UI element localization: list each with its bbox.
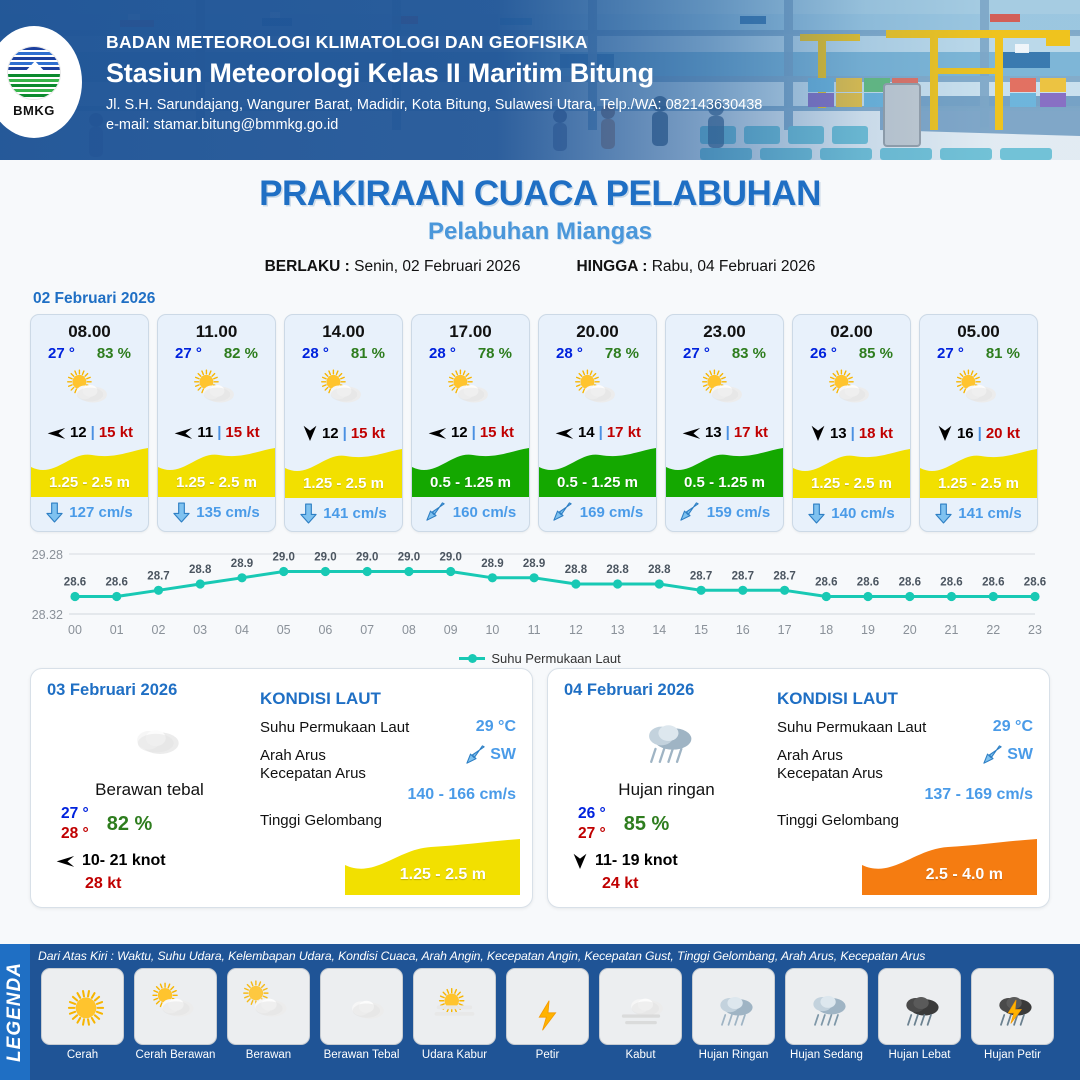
hingga-label: HINGGA :	[576, 258, 647, 275]
svg-text:14: 14	[652, 623, 666, 637]
berawan-tebal-icon	[108, 703, 192, 772]
card-time: 02.00	[793, 315, 910, 342]
card-wind-speed: 14	[578, 424, 595, 441]
wave-height-row: Tinggi Gelombang	[260, 812, 516, 829]
card-gust: 15 kt	[99, 424, 133, 441]
card-wind: 14 | 17 kt	[539, 422, 656, 445]
cerah-berawan-icon	[59, 367, 121, 418]
legend-icon-box	[320, 968, 403, 1045]
svg-text:00: 00	[68, 623, 82, 637]
card-time: 11.00	[158, 315, 275, 342]
cerah-berawan-icon	[144, 980, 208, 1032]
legend-icon-box	[971, 968, 1054, 1045]
card-gust: 17 kt	[607, 424, 641, 441]
card-wind-separator: |	[217, 424, 221, 441]
hujan-ringan-icon	[625, 703, 709, 772]
current-direction-down-icon	[173, 502, 190, 523]
card-weather-icon	[158, 362, 275, 422]
card-current: 169 cm/s	[539, 497, 656, 529]
card-wind-speed: 12	[70, 424, 87, 441]
hourly-card: 02.00 26 ° 85 % 13 | 18 kt 1.25 - 2.5 m …	[792, 314, 911, 532]
card-weather-icon	[285, 362, 402, 422]
legend-item: Cerah Berawan	[131, 968, 220, 1061]
card-weather-icon	[31, 362, 148, 422]
current-speed-row: Kecepatan Arus 140 - 166 cm/s	[260, 765, 516, 804]
udara-kabur-icon	[423, 980, 487, 1032]
card-wind-speed: 16	[957, 425, 974, 442]
card-humidity: 81 %	[351, 345, 385, 362]
current-speed-label: Kecepatan Arus	[260, 765, 516, 782]
cerah-berawan-icon	[313, 367, 375, 418]
card-wave-height: 1.25 - 2.5 m	[158, 474, 275, 491]
card-wave-height: 0.5 - 1.25 m	[666, 474, 783, 491]
legend-item-label: Hujan Sedang	[790, 1049, 863, 1061]
card-current-speed: 159 cm/s	[707, 504, 770, 521]
svg-text:28.6: 28.6	[940, 577, 962, 589]
card-time: 05.00	[920, 315, 1037, 342]
hourly-card: 17.00 28 ° 78 % 12 | 15 kt 0.5 - 1.25 m …	[411, 314, 530, 532]
svg-text:28.6: 28.6	[64, 577, 86, 589]
wave-height-row: Tinggi Gelombang	[777, 812, 1033, 829]
card-wind-separator: |	[599, 424, 603, 441]
header-text-block: BADAN METEOROLOGI KLIMATOLOGI DAN GEOFIS…	[106, 32, 762, 133]
card-wave-height: 1.25 - 2.5 m	[285, 475, 402, 492]
wind-direction-ne-icon	[681, 425, 701, 441]
hujan-petir-icon	[981, 980, 1045, 1032]
svg-text:29.28: 29.28	[32, 548, 63, 562]
current-direction-label: Arah Arus	[777, 747, 843, 764]
card-humidity: 78 %	[605, 345, 639, 362]
card-temp-humidity: 26 ° 85 %	[793, 342, 910, 362]
svg-text:11: 11	[528, 623, 541, 637]
bmkg-logo-text: BMKG	[13, 103, 55, 118]
hourly-card: 05.00 27 ° 81 % 16 | 20 kt 1.25 - 2.5 m …	[919, 314, 1038, 532]
svg-text:21: 21	[945, 623, 959, 637]
card-weather-icon	[920, 362, 1037, 422]
daily-weather-icon	[47, 704, 252, 770]
card-current: 159 cm/s	[666, 497, 783, 529]
legend-item-label: Berawan	[246, 1049, 291, 1061]
card-time: 08.00	[31, 315, 148, 342]
hourly-card: 23.00 27 ° 83 % 13 | 17 kt 0.5 - 1.25 m …	[665, 314, 784, 532]
wind-direction-ne-icon	[427, 425, 447, 441]
card-wind-separator: |	[343, 425, 347, 442]
daily-wind: 10- 21 knot	[47, 852, 252, 870]
card-wave: 1.25 - 2.5 m	[31, 445, 148, 497]
card-current: 141 cm/s	[920, 498, 1037, 531]
legenda-band: LEGENDA	[0, 944, 30, 1080]
wind-direction-down-icon	[302, 424, 318, 442]
svg-text:28.6: 28.6	[982, 577, 1004, 589]
card-wave: 0.5 - 1.25 m	[539, 445, 656, 497]
hourly-card: 08.00 27 ° 83 % 12 | 15 kt 1.25 - 2.5 m …	[30, 314, 149, 532]
card-temp-humidity: 27 ° 81 %	[920, 342, 1037, 362]
daily-date: 03 Februari 2026	[47, 681, 252, 700]
legenda-band-text: LEGENDA	[4, 962, 26, 1062]
card-temp-humidity: 28 ° 78 %	[539, 342, 656, 362]
daily-condition: Hujan ringan	[564, 780, 769, 800]
svg-text:28.6: 28.6	[1024, 577, 1046, 589]
daily-forecast-panel: 04 Februari 2026 Hujan ringan 26 ° 27 ° …	[547, 668, 1050, 908]
card-humidity: 83 %	[97, 345, 131, 362]
card-current-speed: 141 cm/s	[323, 505, 386, 522]
card-wave: 1.25 - 2.5 m	[920, 446, 1037, 498]
card-weather-icon	[412, 362, 529, 422]
daily-wind-range: 11- 19 knot	[595, 852, 678, 870]
port-name: Pelabuhan Miangas	[0, 218, 1080, 246]
hingga-group: HINGGA : Rabu, 04 Februari 2026	[576, 258, 815, 276]
card-wind-speed: 12	[451, 424, 468, 441]
card-temp-humidity: 27 ° 83 %	[31, 342, 148, 362]
legend-item-label: Kabut	[625, 1049, 655, 1061]
card-current-speed: 169 cm/s	[580, 504, 643, 521]
svg-text:02: 02	[152, 623, 166, 637]
card-current: 127 cm/s	[31, 497, 148, 530]
current-direction-down-icon	[300, 503, 317, 524]
card-weather-icon	[539, 362, 656, 422]
current-direction-sw-icon	[679, 502, 701, 522]
daily-humidity: 85 %	[624, 813, 670, 836]
hourly-card: 14.00 28 ° 81 % 12 | 15 kt 1.25 - 2.5 m …	[284, 314, 403, 532]
station-name: Stasiun Meteorologi Kelas II Maritim Bit…	[106, 58, 762, 89]
daily-left-column: 04 Februari 2026 Hujan ringan 26 ° 27 ° …	[564, 681, 769, 897]
card-time: 23.00	[666, 315, 783, 342]
legend-icon-box	[134, 968, 217, 1045]
current-direction-sw-icon	[425, 502, 447, 522]
cerah-berawan-icon	[694, 367, 756, 418]
sst-row: Suhu Permukaan Laut 29 °C	[777, 718, 1033, 736]
berlaku-group: BERLAKU : Senin, 02 Februari 2026	[265, 258, 521, 276]
card-wind-separator: |	[726, 424, 730, 441]
svg-text:28.9: 28.9	[231, 558, 253, 570]
berlaku-value: Senin, 02 Februari 2026	[354, 258, 520, 275]
card-temp-humidity: 28 ° 78 %	[412, 342, 529, 362]
svg-text:09: 09	[444, 623, 458, 637]
legend-icon-box	[506, 968, 589, 1045]
svg-text:13: 13	[611, 623, 625, 637]
legend-item: Petir	[503, 968, 592, 1061]
svg-text:22: 22	[986, 623, 1000, 637]
current-direction-value: SW	[490, 746, 516, 764]
daily-temp-min: 27 °	[61, 805, 89, 823]
card-temp-humidity: 28 ° 81 %	[285, 342, 402, 362]
daily-wind: 11- 19 knot	[564, 852, 769, 870]
svg-text:28.8: 28.8	[606, 564, 629, 576]
daily-wave-value: 2.5 - 4.0 m	[926, 866, 1003, 884]
legend-icon-box	[227, 968, 310, 1045]
svg-text:29.0: 29.0	[398, 552, 420, 564]
legend-item-label: Hujan Lebat	[888, 1049, 950, 1061]
chart-legend-label: Suhu Permukaan Laut	[491, 651, 620, 666]
legend-item: Hujan Lebat	[875, 968, 964, 1061]
card-wave: 1.25 - 2.5 m	[285, 446, 402, 498]
legend-item: Kabut	[596, 968, 685, 1061]
current-direction-sw-icon	[465, 745, 487, 765]
svg-text:29.0: 29.0	[356, 552, 378, 564]
legend-footer: LEGENDA Dari Atas Kiri : Waktu, Suhu Uda…	[0, 944, 1080, 1080]
wave-height-label: Tinggi Gelombang	[777, 812, 1033, 829]
svg-text:28.6: 28.6	[106, 577, 128, 589]
wind-direction-ne-icon	[46, 425, 66, 441]
card-current: 140 cm/s	[793, 498, 910, 531]
wind-direction-down-icon	[810, 424, 826, 442]
legend-item: Hujan Sedang	[782, 968, 871, 1061]
svg-text:03: 03	[193, 623, 207, 637]
kabut-icon	[609, 980, 673, 1032]
card-wind-separator: |	[978, 425, 982, 442]
card-temp-humidity: 27 ° 83 %	[666, 342, 783, 362]
card-wave-height: 1.25 - 2.5 m	[31, 474, 148, 491]
legend-icon-box	[878, 968, 961, 1045]
svg-text:01: 01	[110, 623, 124, 637]
legend-icon-box	[599, 968, 682, 1045]
title-block: PRAKIRAAN CUACA PELABUHAN Pelabuhan Mian…	[0, 160, 1080, 276]
bmkg-emblem-icon	[7, 46, 61, 100]
agency-name: BADAN METEOROLOGI KLIMATOLOGI DAN GEOFIS…	[106, 32, 762, 53]
wind-direction-ne-icon	[554, 425, 574, 441]
svg-text:17: 17	[778, 623, 792, 637]
cerah-berawan-icon	[567, 367, 629, 418]
card-wind-speed: 13	[830, 425, 847, 442]
hourly-forecast-cards: 08.00 27 ° 83 % 12 | 15 kt 1.25 - 2.5 m …	[0, 314, 1080, 532]
svg-text:29.0: 29.0	[440, 552, 462, 564]
legend-items: Cerah Cerah Berawan Berawan Berawan Teba…	[38, 968, 1074, 1061]
legend-item: Cerah	[38, 968, 127, 1061]
card-current-speed: 135 cm/s	[196, 504, 259, 521]
current-direction-sw-icon	[552, 502, 574, 522]
hourly-card: 11.00 27 ° 82 % 11 | 15 kt 1.25 - 2.5 m …	[157, 314, 276, 532]
page-header: BMKG BADAN METEOROLOGI KLIMATOLOGI DAN G…	[0, 0, 1080, 160]
sst-label: Suhu Permukaan Laut	[260, 719, 409, 736]
legend-icon-box	[785, 968, 868, 1045]
card-current-speed: 127 cm/s	[69, 504, 132, 521]
legend-item-label: Cerah Berawan	[136, 1049, 216, 1061]
card-gust: 15 kt	[351, 425, 385, 442]
card-current-speed: 160 cm/s	[453, 504, 516, 521]
sst-chart: 29.2828.3228.60028.60128.70228.80328.904…	[0, 542, 1080, 662]
current-direction-value: SW	[1007, 746, 1033, 764]
card-gust: 15 kt	[480, 424, 514, 441]
svg-text:10: 10	[485, 623, 499, 637]
card-wave: 1.25 - 2.5 m	[793, 446, 910, 498]
card-wave: 0.5 - 1.25 m	[412, 445, 529, 497]
svg-text:04: 04	[235, 623, 249, 637]
petir-icon	[516, 980, 580, 1032]
station-email: e-mail: stamar.bitung@bmmkg.go.id	[106, 117, 762, 133]
legend-item: Berawan	[224, 968, 313, 1061]
sst-row: Suhu Permukaan Laut 29 °C	[260, 718, 516, 736]
svg-text:28.9: 28.9	[481, 558, 503, 570]
legend-icon-box	[413, 968, 496, 1045]
current-speed-value: 140 - 166 cm/s	[260, 786, 516, 804]
card-wave-height: 1.25 - 2.5 m	[793, 475, 910, 492]
card-gust: 18 kt	[859, 425, 893, 442]
legend-item: Udara Kabur	[410, 968, 499, 1061]
card-humidity: 85 %	[859, 345, 893, 362]
card-temperature: 28 °	[429, 345, 456, 362]
card-time: 20.00	[539, 315, 656, 342]
daily-gust: 24 kt	[564, 875, 769, 893]
card-temperature: 27 °	[48, 345, 75, 362]
svg-text:28.8: 28.8	[648, 564, 671, 576]
daily-temp-humidity: 27 ° 28 ° 82 %	[47, 805, 252, 843]
daily-wave-value: 1.25 - 2.5 m	[400, 866, 486, 884]
svg-text:28.32: 28.32	[32, 608, 63, 622]
daily-date: 04 Februari 2026	[564, 681, 769, 700]
card-wind: 13 | 17 kt	[666, 422, 783, 445]
daily-left-column: 03 Februari 2026 Berawan tebal 27 ° 28 °…	[47, 681, 252, 897]
legend-note: Dari Atas Kiri : Waktu, Suhu Udara, Kele…	[38, 949, 1074, 963]
daily-temp-column: 27 ° 28 °	[61, 805, 89, 843]
sst-label: Suhu Permukaan Laut	[777, 719, 926, 736]
daily-forecast-panel: 03 Februari 2026 Berawan tebal 27 ° 28 °…	[30, 668, 533, 908]
daily-temp-column: 26 ° 27 °	[578, 805, 606, 843]
card-wind: 12 | 15 kt	[285, 422, 402, 446]
card-wind: 12 | 15 kt	[412, 422, 529, 445]
card-wind-separator: |	[851, 425, 855, 442]
chart-legend: Suhu Permukaan Laut	[0, 651, 1080, 666]
cerah-berawan-icon	[440, 367, 502, 418]
card-wind-speed: 12	[322, 425, 339, 442]
berawan-icon	[237, 980, 301, 1032]
svg-text:28.6: 28.6	[899, 577, 921, 589]
sea-conditions-title: KONDISI LAUT	[260, 689, 516, 709]
sea-conditions-title: KONDISI LAUT	[777, 689, 1033, 709]
card-wave-height: 0.5 - 1.25 m	[412, 474, 529, 491]
wind-direction-ne-icon	[173, 425, 193, 441]
current-direction-row: Arah Arus SW	[260, 745, 516, 765]
cerah-icon	[51, 980, 115, 1032]
svg-text:19: 19	[861, 623, 875, 637]
hingga-value: Rabu, 04 Februari 2026	[652, 258, 816, 275]
hourly-date-label: 02 Februari 2026	[33, 290, 1080, 308]
page-title: PRAKIRAAN CUACA PELABUHAN	[0, 174, 1080, 214]
legend-item: Berawan Tebal	[317, 968, 406, 1061]
svg-text:28.7: 28.7	[690, 570, 712, 582]
card-wind-speed: 13	[705, 424, 722, 441]
sst-value: 29 °C	[476, 718, 516, 736]
card-wind-separator: |	[91, 424, 95, 441]
card-gust: 15 kt	[225, 424, 259, 441]
card-temperature: 27 °	[683, 345, 710, 362]
svg-text:12: 12	[569, 623, 583, 637]
legend-item-label: Cerah	[67, 1049, 98, 1061]
card-current-speed: 140 cm/s	[831, 505, 894, 522]
hourly-card: 20.00 28 ° 78 % 14 | 17 kt 0.5 - 1.25 m …	[538, 314, 657, 532]
card-temperature: 27 °	[937, 345, 964, 362]
card-wave-height: 1.25 - 2.5 m	[920, 475, 1037, 492]
card-wave: 0.5 - 1.25 m	[666, 445, 783, 497]
svg-text:20: 20	[903, 623, 917, 637]
svg-text:28.7: 28.7	[147, 570, 169, 582]
card-current: 160 cm/s	[412, 497, 529, 529]
card-gust: 20 kt	[986, 425, 1020, 442]
cerah-berawan-icon	[948, 367, 1010, 418]
station-address: Jl. S.H. Sarundajang, Wangurer Barat, Ma…	[106, 97, 762, 113]
cerah-berawan-icon	[821, 367, 883, 418]
legend-item-label: Petir	[536, 1049, 560, 1061]
wind-direction-down-icon	[937, 424, 953, 442]
svg-text:18: 18	[819, 623, 833, 637]
card-temperature: 27 °	[175, 345, 202, 362]
svg-text:16: 16	[736, 623, 750, 637]
validity-row: BERLAKU : Senin, 02 Februari 2026 HINGGA…	[0, 258, 1080, 276]
daily-temp-max: 28 °	[61, 825, 89, 843]
card-weather-icon	[666, 362, 783, 422]
card-current: 135 cm/s	[158, 497, 275, 530]
svg-text:08: 08	[402, 623, 416, 637]
current-direction-row: Arah Arus SW	[777, 745, 1033, 765]
svg-text:28.6: 28.6	[857, 577, 879, 589]
current-direction-sw-icon	[982, 745, 1004, 765]
berawan-tebal-icon	[330, 980, 394, 1032]
sst-value: 29 °C	[993, 718, 1033, 736]
svg-text:28.6: 28.6	[815, 577, 837, 589]
daily-sea-conditions: KONDISI LAUT Suhu Permukaan Laut 29 °C A…	[252, 681, 516, 897]
card-temperature: 28 °	[302, 345, 329, 362]
card-humidity: 83 %	[732, 345, 766, 362]
svg-text:28.8: 28.8	[189, 564, 212, 576]
card-wave: 1.25 - 2.5 m	[158, 445, 275, 497]
hujan-sedang-icon	[795, 980, 859, 1032]
svg-text:28.7: 28.7	[732, 570, 754, 582]
daily-sea-conditions: KONDISI LAUT Suhu Permukaan Laut 29 °C A…	[769, 681, 1033, 897]
legend-item: Hujan Ringan	[689, 968, 778, 1061]
daily-humidity: 82 %	[107, 813, 153, 836]
current-direction-value-group: SW	[465, 745, 516, 765]
current-direction-down-icon	[46, 502, 63, 523]
berlaku-label: BERLAKU :	[265, 258, 350, 275]
legend-icon-box	[692, 968, 775, 1045]
svg-text:29.0: 29.0	[273, 552, 295, 564]
svg-text:28.9: 28.9	[523, 558, 545, 570]
daily-gust: 28 kt	[47, 875, 252, 893]
current-speed-row: Kecepatan Arus 137 - 169 cm/s	[777, 765, 1033, 804]
current-direction-down-icon	[808, 503, 825, 524]
card-wind-separator: |	[472, 424, 476, 441]
card-wind: 16 | 20 kt	[920, 422, 1037, 446]
card-time: 17.00	[412, 315, 529, 342]
daily-forecast-panels: 03 Februari 2026 Berawan tebal 27 ° 28 °…	[0, 662, 1080, 908]
card-wind: 13 | 18 kt	[793, 422, 910, 446]
current-direction-value-group: SW	[982, 745, 1033, 765]
wave-height-label: Tinggi Gelombang	[260, 812, 516, 829]
legend-item-label: Hujan Ringan	[699, 1049, 769, 1061]
card-time: 14.00	[285, 315, 402, 342]
daily-temp-humidity: 26 ° 27 ° 85 %	[564, 805, 769, 843]
svg-text:29.0: 29.0	[314, 552, 336, 564]
card-wave-height: 0.5 - 1.25 m	[539, 474, 656, 491]
card-current: 141 cm/s	[285, 498, 402, 531]
svg-text:06: 06	[318, 623, 332, 637]
svg-text:23: 23	[1028, 623, 1042, 637]
daily-weather-icon	[564, 704, 769, 770]
daily-temp-max: 27 °	[578, 825, 606, 843]
cerah-berawan-icon	[186, 367, 248, 418]
svg-text:28.7: 28.7	[773, 570, 795, 582]
svg-text:07: 07	[360, 623, 374, 637]
daily-wind-range: 10- 21 knot	[82, 852, 166, 870]
legend-item-label: Hujan Petir	[984, 1049, 1041, 1061]
card-weather-icon	[793, 362, 910, 422]
hujan-ringan-icon	[702, 980, 766, 1032]
card-humidity: 78 %	[478, 345, 512, 362]
legend-item: Hujan Petir	[968, 968, 1057, 1061]
current-speed-label: Kecepatan Arus	[777, 765, 1033, 782]
card-wind-speed: 11	[197, 424, 213, 441]
chart-legend-marker	[459, 657, 485, 660]
card-current-speed: 141 cm/s	[958, 505, 1021, 522]
